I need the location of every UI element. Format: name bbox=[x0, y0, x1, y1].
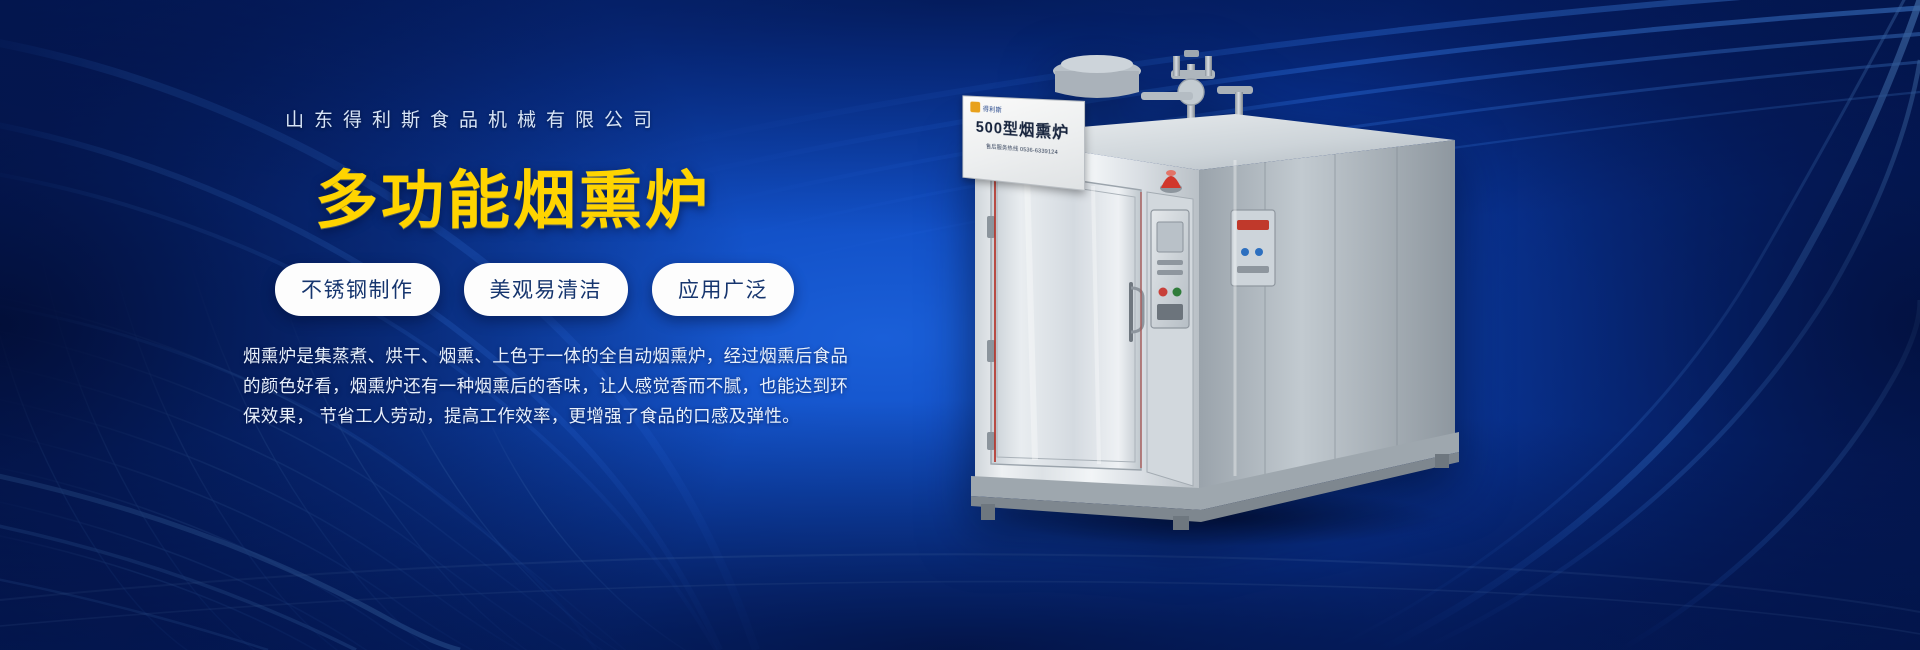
hero-copy: 山东得利斯食品机械有限公司 多功能烟熏炉 不锈钢制作 美观易清洁 应用广泛 烟熏… bbox=[243, 105, 813, 431]
hotline-label: 售后服务热线 bbox=[986, 144, 1018, 153]
hotline-number: 0536-6339124 bbox=[1020, 147, 1058, 156]
feature-pill-stainless[interactable]: 不锈钢制作 bbox=[275, 263, 440, 316]
feature-pill-group: 不锈钢制作 美观易清洁 应用广泛 bbox=[243, 263, 813, 316]
feature-pill-wide-use[interactable]: 应用广泛 bbox=[652, 263, 794, 316]
brand-mark-icon bbox=[970, 101, 980, 112]
description-line-3: 保效果， 节省工人劳动，提高工作效率，更增强了食品的口感及弹性。 bbox=[243, 401, 803, 431]
machine-nameplate: 得利斯 500型烟熏炉 售后服务热线 0536-6339124 bbox=[962, 95, 1085, 191]
description-line-1: 烟熏炉是集蒸煮、烘干、烟熏、上色于一体的全自动烟熏炉，经过烟熏后食品 bbox=[243, 341, 803, 371]
smokehouse-oven-image: 得利斯 500型烟熏炉 售后服务热线 0536-6339124 bbox=[935, 40, 1495, 530]
company-name: 山东得利斯食品机械有限公司 bbox=[243, 105, 813, 132]
feature-pill-easy-clean[interactable]: 美观易清洁 bbox=[464, 263, 629, 316]
hero-banner: 得利斯 500型烟熏炉 售后服务热线 0536-6339124 山东得利斯食品机… bbox=[0, 0, 1920, 650]
description-line-2: 的颜色好看，烟熏炉还有一种烟熏后的香味，让人感觉香而不腻，也能达到环 bbox=[243, 371, 803, 401]
nameplate-brand: 得利斯 bbox=[983, 103, 1002, 114]
page-title: 多功能烟熏炉 bbox=[243, 150, 813, 241]
product-description: 烟熏炉是集蒸煮、烘干、烟熏、上色于一体的全自动烟熏炉，经过烟熏后食品 的颜色好看… bbox=[243, 341, 803, 431]
